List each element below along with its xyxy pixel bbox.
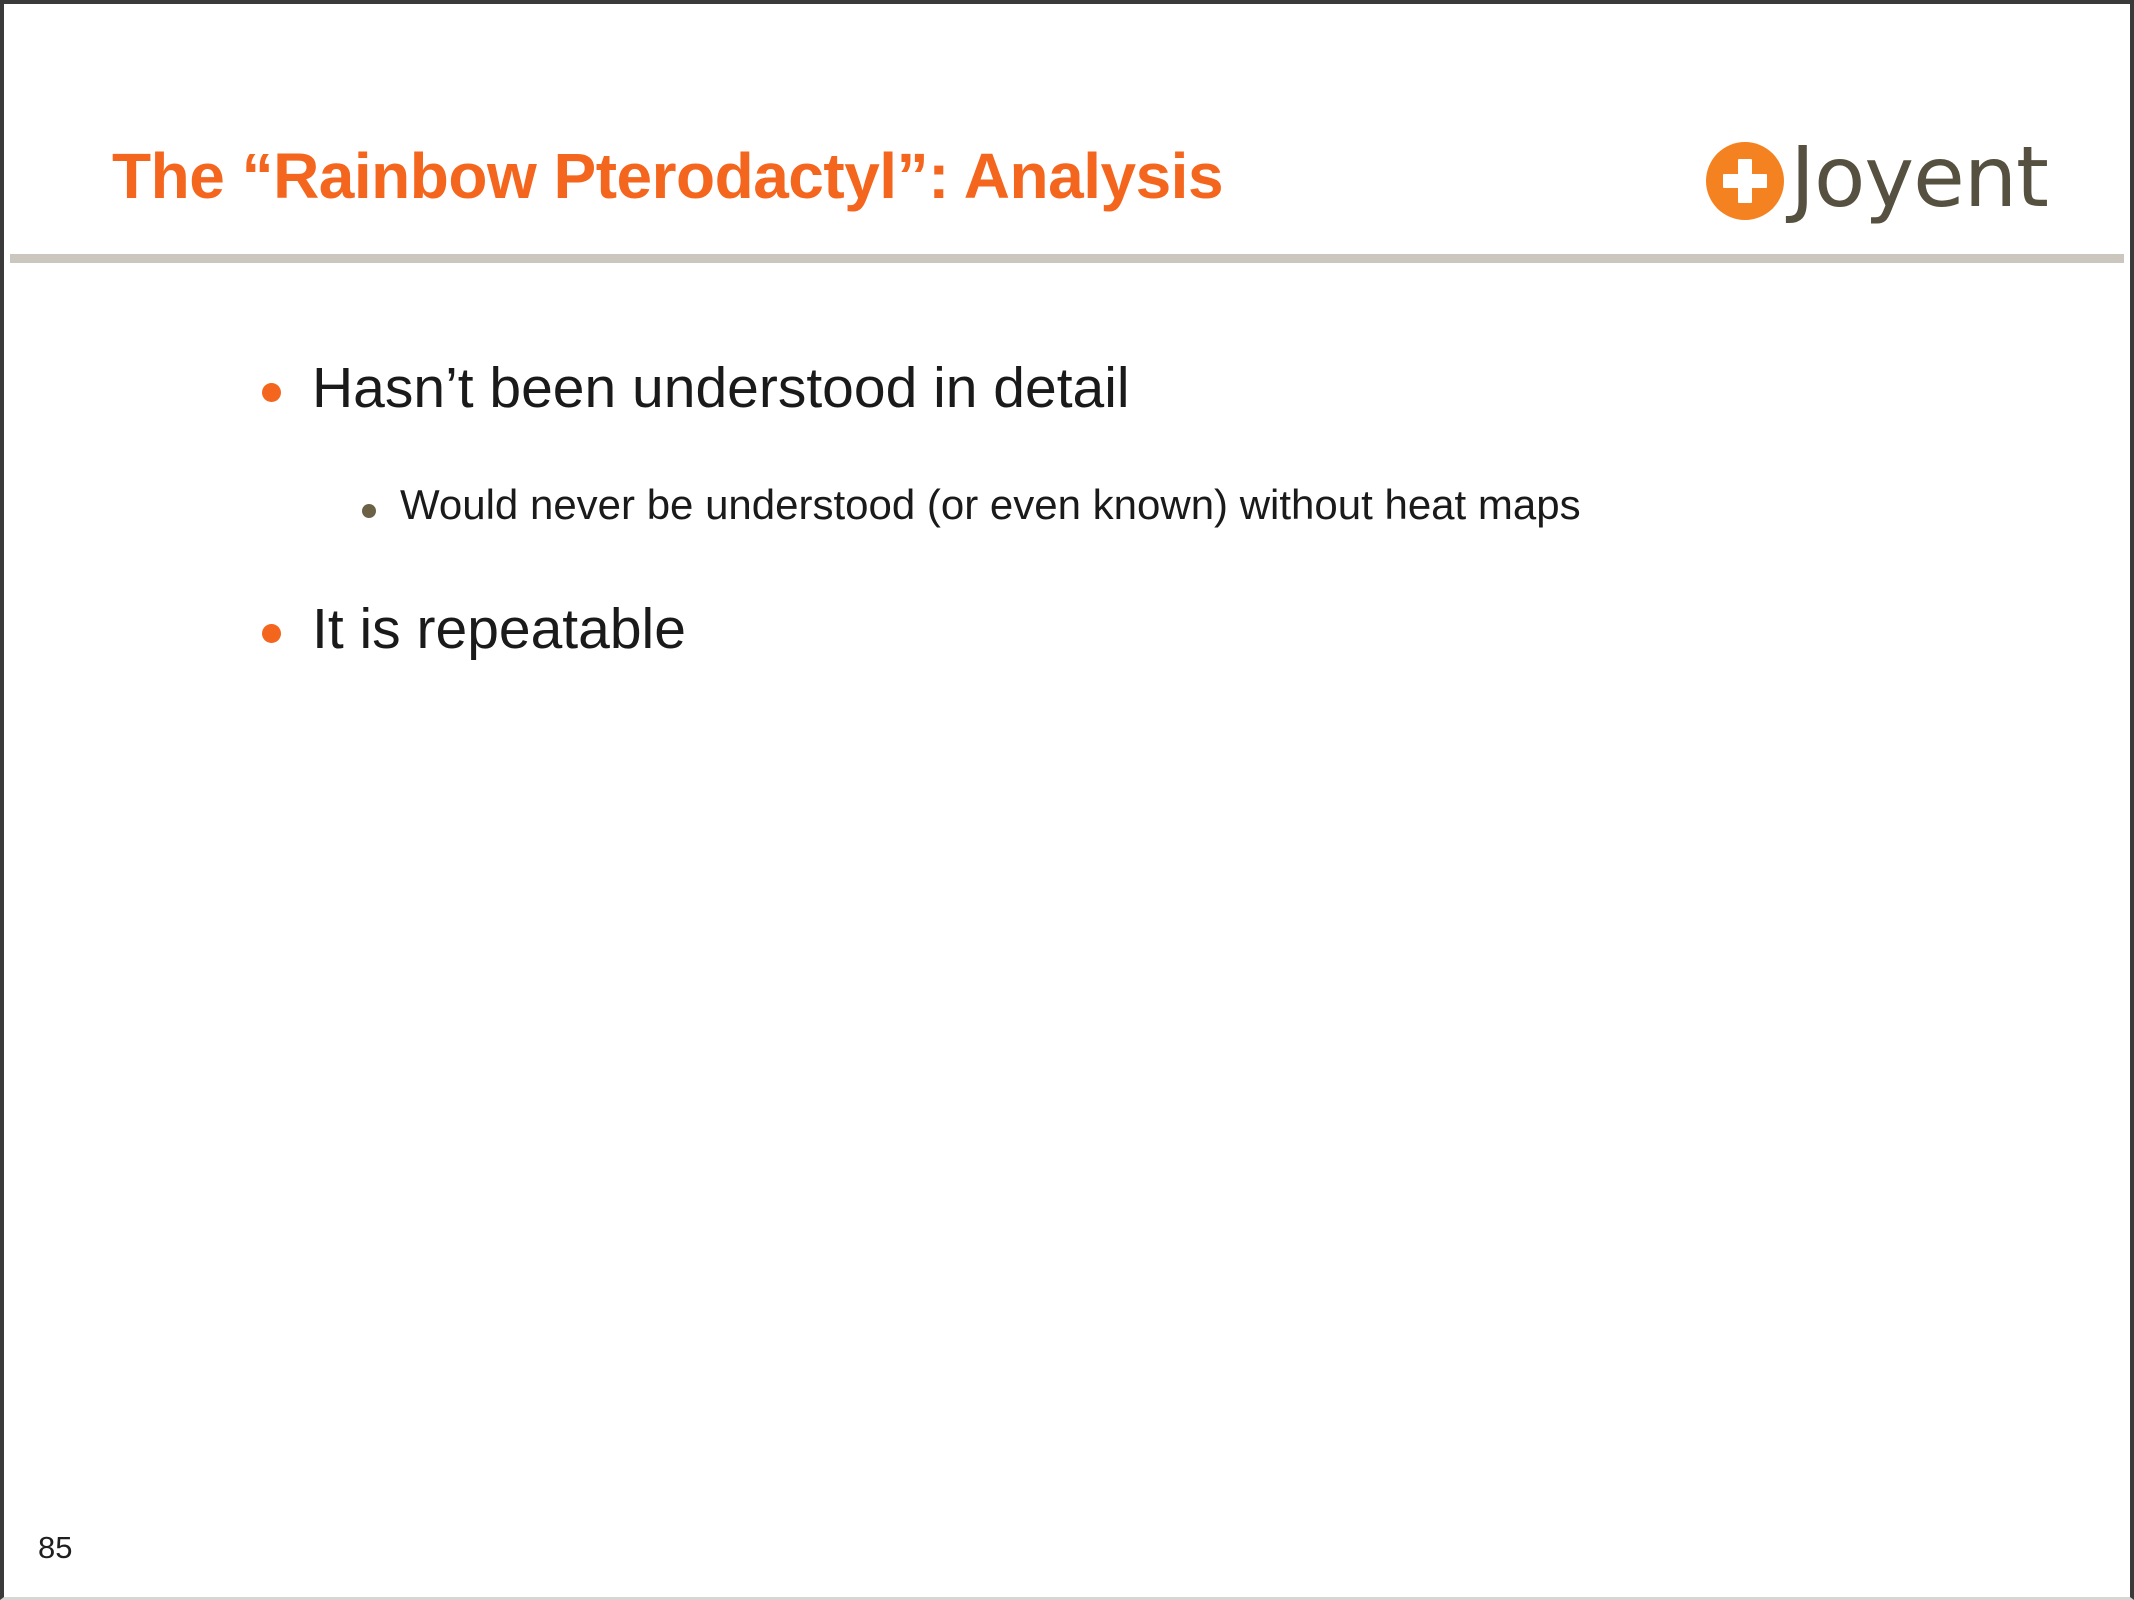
list-item-label: Hasn’t been understood in detail (312, 358, 1130, 418)
olive-round-bullet-icon (362, 504, 376, 518)
joyent-logo: Joyent (1706, 126, 2048, 236)
orange-round-bullet-icon (262, 624, 281, 643)
page-number: 85 (38, 1532, 72, 1563)
slide-body: Hasn’t been understood in detail Would n… (4, 256, 2130, 1597)
list-item-label: Would never be understood (or even known… (400, 483, 1581, 528)
slide-header: The “Rainbow Pterodactyl”: Analysis Joye… (4, 4, 2130, 256)
orange-round-bullet-icon (262, 383, 281, 402)
brand-wordmark: Joyent (1790, 135, 2048, 219)
plus-in-circle-icon (1706, 142, 1784, 220)
presentation-slide: The “Rainbow Pterodactyl”: Analysis Joye… (0, 0, 2134, 1600)
page-title: The “Rainbow Pterodactyl”: Analysis (112, 144, 1223, 208)
list-item: It is repeatable (262, 599, 686, 659)
list-item: Hasn’t been understood in detail (262, 358, 1130, 418)
list-item-label: It is repeatable (312, 599, 686, 659)
list-item: Would never be understood (or even known… (362, 483, 1581, 528)
